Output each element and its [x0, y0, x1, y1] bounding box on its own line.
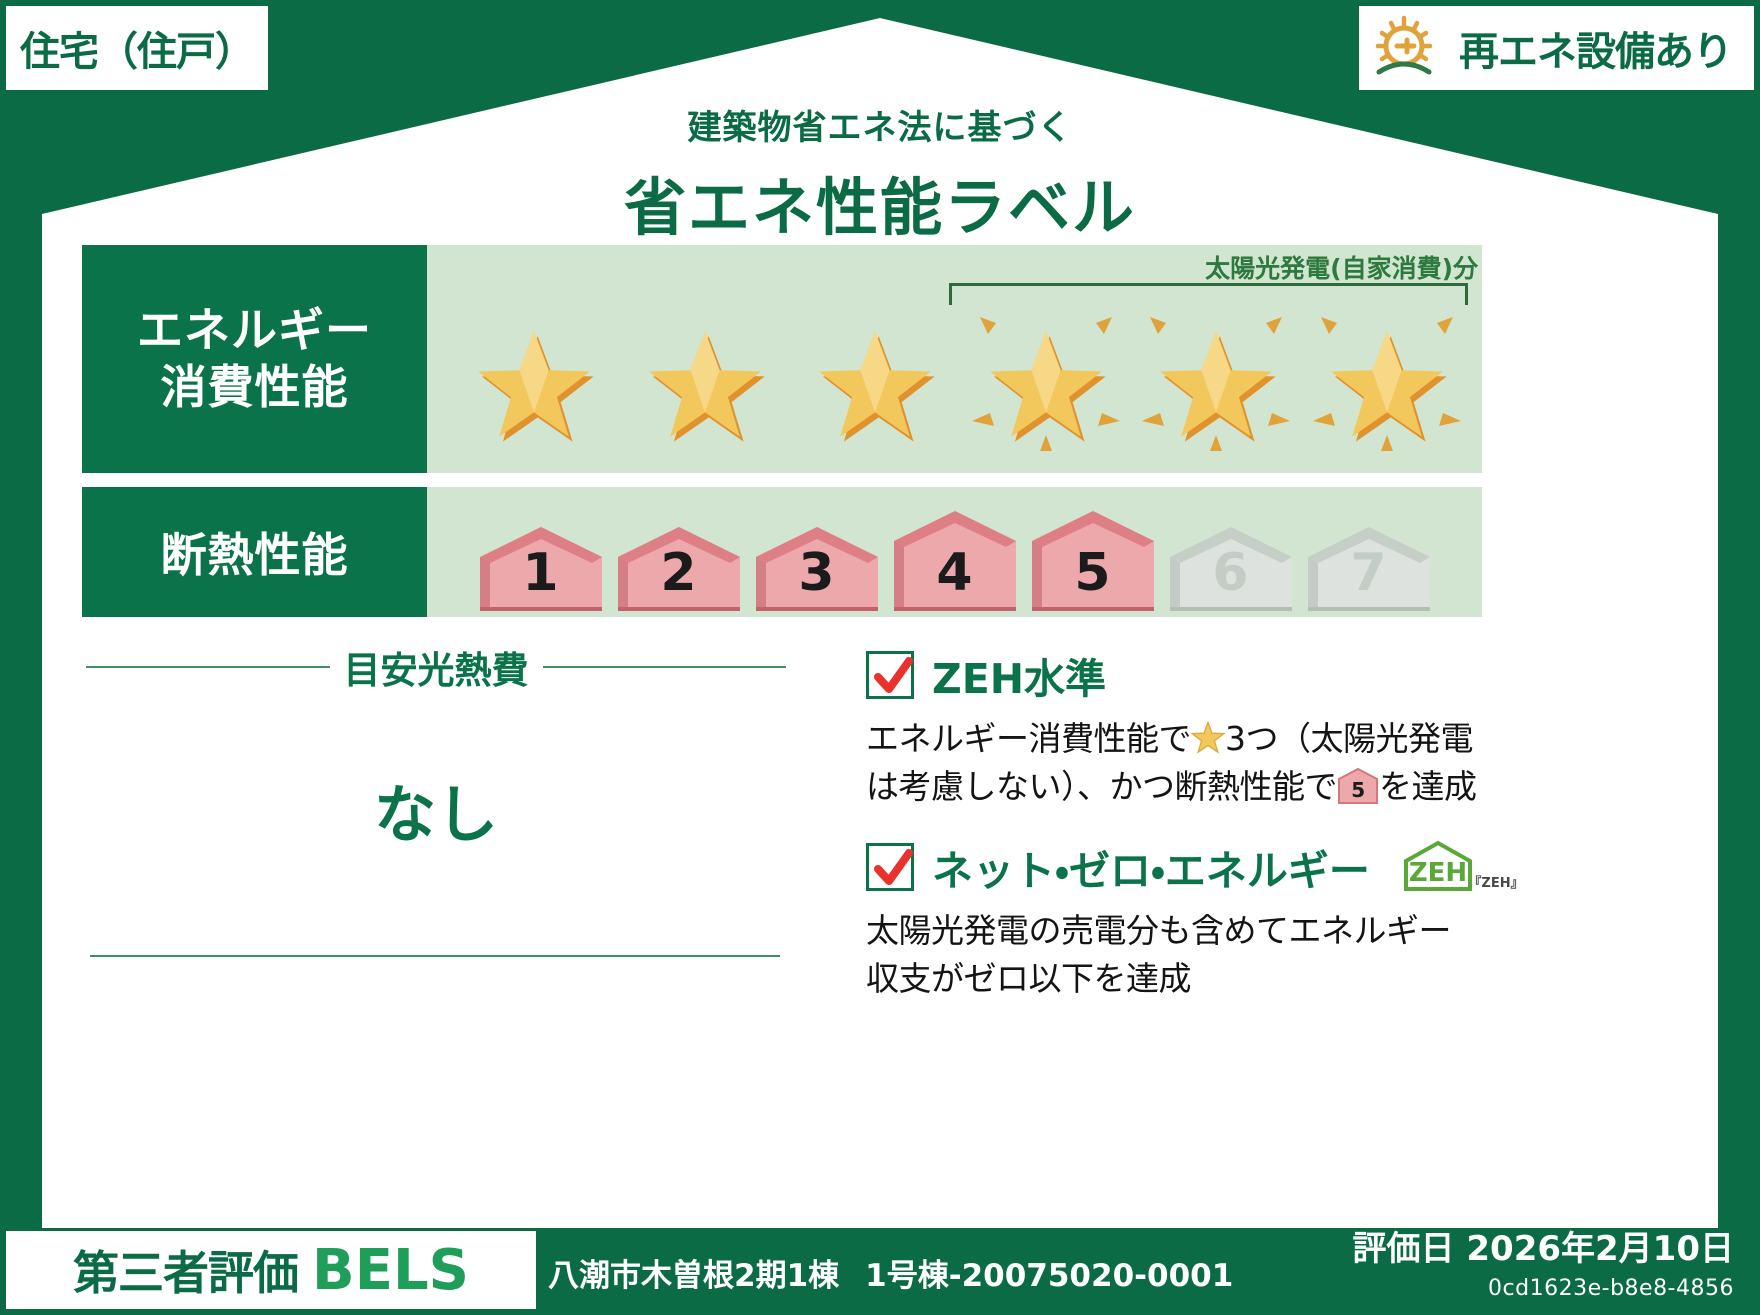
insulation-level-2: 2 — [612, 523, 746, 611]
insulation-level-5: 5 — [1026, 507, 1160, 611]
net-zero-energy-item: ネット・ゼロ・エネルギー ZEH 『ZEH』 太陽光発電の売電分も含めてエネルギ… — [866, 837, 1486, 1003]
inline-star-icon — [1191, 720, 1225, 754]
divider-right — [543, 666, 787, 668]
insulation-level-number: 1 — [474, 543, 608, 603]
energy-star-6 — [1307, 301, 1467, 461]
insulation-level-1: 1 — [474, 523, 608, 611]
certificate-id: 0cd1623e-b8e8-4856 — [1353, 1276, 1734, 1301]
zeh-standard-item: ZEH水準 エネルギー消費性能で3つ（太陽光発電 は考慮しない）、かつ断熱性能で… — [866, 645, 1486, 811]
page-title: 省エネ性能ラベル — [0, 157, 1760, 247]
evaluation-date-value: 2026年2月10日 — [1466, 1229, 1734, 1269]
insulation-level-number: 5 — [1026, 543, 1160, 603]
zeh-desc-part-a: エネルギー消費性能で — [866, 719, 1191, 758]
energy-star-2 — [625, 301, 785, 461]
energy-star-1 — [454, 301, 614, 461]
footer: 第三者評価 BELS 八潮市木曽根2期1棟1号棟-20075020-0001 評… — [0, 1203, 1760, 1315]
net-zero-title-row: ネット・ゼロ・エネルギー ZEH 『ZEH』 — [866, 837, 1486, 897]
energy-star-4 — [966, 301, 1126, 461]
insulation-label-text: 断熱性能 — [161, 519, 349, 585]
energy-performance-body: 太陽光発電(自家消費)分 — [427, 245, 1482, 473]
bels-label-root: 住宅（住戸） 再エネ設備あり — [0, 0, 1760, 1315]
property-address-text: 八潮市木曽根2期1棟 — [548, 1258, 839, 1294]
utility-cost-block: 目安光熱費 なし — [86, 640, 786, 854]
evaluation-date: 評価日 2026年2月10日 — [1353, 1221, 1734, 1270]
svg-text:『ZEH』: 『ZEH』 — [1468, 875, 1522, 891]
evaluation-date-label: 評価日 — [1353, 1229, 1455, 1269]
header: 建築物省エネ法に基づく 省エネ性能ラベル — [0, 100, 1760, 247]
evaluation-date-block: 評価日 2026年2月10日 0cd1623e-b8e8-4856 — [1353, 1221, 1734, 1301]
energy-star-rating — [449, 293, 1472, 469]
badge-dwelling-type: 住宅（住戸） — [6, 6, 268, 90]
insulation-level-number: 2 — [612, 543, 746, 603]
zeh-claims-block: ZEH水準 エネルギー消費性能で3つ（太陽光発電 は考慮しない）、かつ断熱性能で… — [866, 645, 1486, 1012]
insulation-performance-label: 断熱性能 — [82, 487, 427, 617]
svg-text:5: 5 — [1351, 778, 1364, 802]
utility-cost-value: なし — [86, 764, 786, 854]
insulation-level-number: 3 — [750, 543, 884, 603]
zeh-standard-description: エネルギー消費性能で3つ（太陽光発電 は考慮しない）、かつ断熱性能で5を達成 — [866, 715, 1486, 811]
badge-renewable-equipment: 再エネ設備あり — [1359, 6, 1754, 90]
zeh-standard-title-row: ZEH水準 — [866, 645, 1486, 705]
energy-performance-label: エネルギー 消費性能 — [82, 245, 427, 473]
insulation-level-7: 7 — [1302, 523, 1436, 611]
insulation-level-number: 4 — [888, 543, 1022, 603]
insulation-level-number: 6 — [1164, 543, 1298, 603]
energy-performance-row: エネルギー 消費性能 太陽光発電(自家消費)分 — [82, 245, 1482, 473]
zeh-logo-icon: ZEH 『ZEH』 — [1398, 839, 1522, 895]
bels-badge-jp: 第三者評価 — [73, 1237, 298, 1303]
insulation-performance-body: 1 2 3 4 — [427, 487, 1482, 617]
energy-label-line1: エネルギー — [137, 302, 372, 360]
badge-dwelling-label: 住宅（住戸） — [20, 19, 254, 77]
net-zero-checkbox[interactable] — [866, 843, 914, 891]
bels-badge-en: BELS — [312, 1238, 469, 1303]
zeh-standard-title: ZEH水準 — [932, 645, 1106, 705]
bels-badge: 第三者評価 BELS — [6, 1231, 536, 1309]
property-unit-id: 1号棟-20075020-0001 — [865, 1258, 1233, 1294]
energy-star-3 — [795, 301, 955, 461]
zeh-desc-star-text: 3つ（太陽光発電 — [1225, 719, 1473, 758]
insulation-performance-row: 断熱性能 1 2 3 — [82, 487, 1482, 617]
divider-left — [86, 666, 330, 668]
header-subtitle: 建築物省エネ法に基づく — [0, 100, 1760, 149]
property-address: 八潮市木曽根2期1棟1号棟-20075020-0001 — [548, 1250, 1233, 1295]
net-zero-desc-line2: 収支がゼロ以下を達成 — [866, 959, 1191, 998]
insulation-level-6: 6 — [1164, 523, 1298, 611]
solar-sun-icon — [1373, 14, 1447, 82]
net-zero-title: ネット・ゼロ・エネルギー — [932, 837, 1370, 897]
svg-text:ZEH: ZEH — [1409, 858, 1467, 888]
insulation-level-4: 4 — [888, 507, 1022, 611]
utility-cost-bottom-rule — [90, 955, 780, 957]
zeh-desc-part-b: は考慮しない）、かつ断熱性能で — [866, 767, 1337, 806]
badge-renewable-label: 再エネ設備あり — [1459, 19, 1732, 77]
inline-insulation-badge: 5 — [1337, 767, 1379, 803]
utility-cost-heading: 目安光熱費 — [86, 640, 786, 694]
solar-self-consumption-note: 太陽光発電(自家消費)分 — [1205, 249, 1478, 285]
zeh-desc-part-c: を達成 — [1379, 767, 1477, 806]
utility-cost-heading-text: 目安光熱費 — [344, 640, 529, 694]
zeh-standard-checkbox[interactable] — [866, 651, 914, 699]
net-zero-desc-line1: 太陽光発電の売電分も含めてエネルギー — [866, 911, 1451, 950]
insulation-level-number: 7 — [1302, 543, 1436, 603]
net-zero-description: 太陽光発電の売電分も含めてエネルギー 収支がゼロ以下を達成 — [866, 907, 1486, 1003]
energy-label-line2: 消費性能 — [161, 359, 349, 417]
energy-star-5 — [1136, 301, 1296, 461]
insulation-level-3: 3 — [750, 523, 884, 611]
